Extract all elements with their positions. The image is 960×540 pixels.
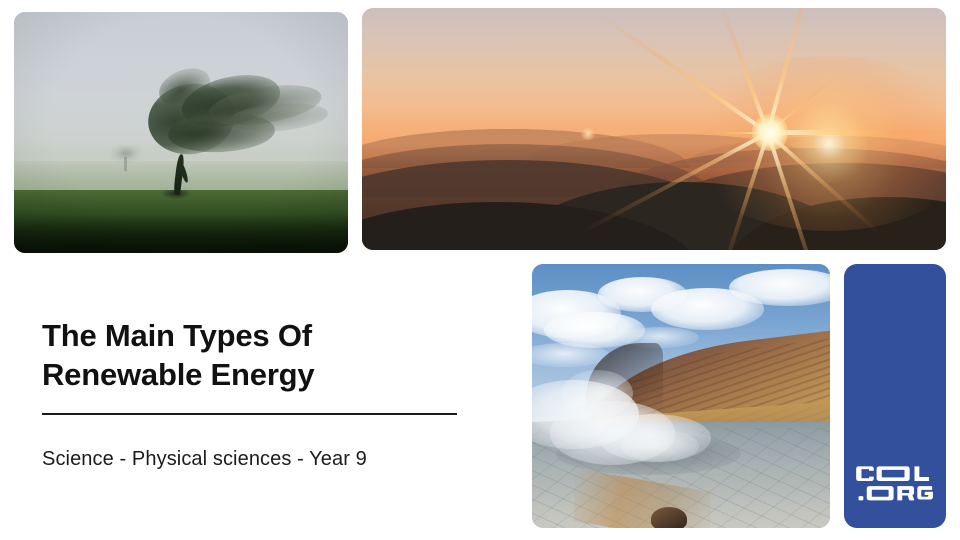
photo-vignette <box>14 12 348 253</box>
slide-text-block: The Main Types Of Renewable Energy Scien… <box>42 316 472 472</box>
slide-canvas: The Main Types Of Renewable Energy Scien… <box>0 0 960 540</box>
page-title: The Main Types Of Renewable Energy <box>42 316 472 394</box>
cloud <box>651 288 764 330</box>
sun-core <box>752 114 788 150</box>
title-divider <box>42 413 457 415</box>
solar-energy-photo <box>362 8 946 250</box>
cool-org-logo-mark <box>856 464 934 506</box>
foreground-rock <box>651 507 687 528</box>
slide-subtitle: Science - Physical sciences - Year 9 <box>42 446 472 472</box>
wind-energy-photo <box>14 12 348 253</box>
cool-org-logo-panel[interactable] <box>844 264 946 528</box>
steam-plume <box>621 430 698 462</box>
geothermal-energy-photo <box>532 264 830 528</box>
